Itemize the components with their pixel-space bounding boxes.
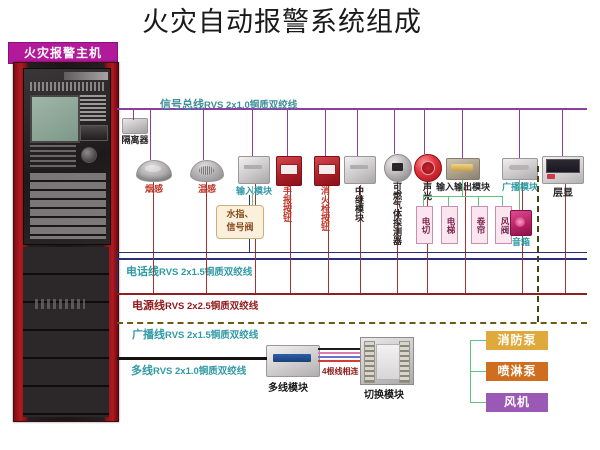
wire-bundle (318, 348, 360, 364)
connector-input-to-waterbox (252, 186, 253, 205)
bus-label-broadcast: 广播线RVS 2x1.5铜质双绞线 (132, 325, 258, 343)
output-box-fire-pump: 消防泵 (486, 331, 548, 350)
panel-lcd-screen (30, 95, 80, 143)
switch-module-terminal-right (399, 341, 410, 383)
output-bracket-arm-1 (470, 340, 486, 341)
wire-red (318, 360, 360, 362)
io-tree-stem (462, 180, 463, 197)
return-line-io-mod (465, 182, 466, 293)
return-line-heat (206, 182, 207, 293)
panel-keypad (30, 145, 76, 169)
device-repeater-module: 中继模块 (344, 156, 376, 184)
drop-line-hydrant (325, 108, 326, 156)
drop-line-gas (394, 108, 395, 154)
broadcast-dashed-riser (537, 166, 539, 322)
floor-display-label: 层显 (553, 184, 573, 199)
repeater-module-label: 中继模块 (354, 186, 364, 222)
device-gas-detector: 可燃气体探测器 (384, 154, 412, 182)
drop-line-heat (203, 108, 204, 160)
broadcast-module-icon (502, 158, 538, 180)
io-tree-leg-3 (478, 196, 479, 206)
host-panel-label: 火灾报警主机 (8, 42, 118, 64)
wire-pink (318, 352, 360, 354)
switch-module-label: 切换模块 (364, 386, 404, 401)
panel-rotary-knob (81, 147, 97, 163)
drop-line-bc-mod (519, 108, 520, 158)
device-floor-display: 层显 (542, 156, 584, 184)
multiline-module-label: 多线模块 (268, 379, 308, 394)
water-valve-line2: 信号阀 (226, 222, 253, 232)
heat-detector-icon (190, 160, 224, 182)
floor-display-led (547, 174, 555, 179)
speaker-label: 音箱 (512, 235, 530, 248)
input-module-icon (238, 156, 270, 184)
device-manual-call-point: 手报按钮 (276, 156, 302, 186)
panel-brand-mark (64, 72, 108, 80)
drop-line-manual-cp (287, 108, 288, 156)
water-valve-box: 水指、 信号阀 (216, 205, 264, 239)
bus-label-power: 电源线RVS 2x2.5铜质双绞线 (132, 296, 258, 314)
panel-rack-label (35, 299, 85, 309)
phone-bus-top-edge (117, 252, 587, 253)
wire-count-note: 4根线相连 (322, 366, 358, 377)
device-smoke-detector: 烟感 (136, 160, 172, 182)
device-io-module: 输入输出模块 (446, 158, 480, 180)
manual-call-point-label: 手报按钮 (282, 186, 292, 222)
panel-zone-grid (30, 173, 106, 239)
wire-blue (318, 356, 360, 358)
io-tree-leg-2 (448, 196, 449, 206)
water-valve-line1: 水指、 (226, 209, 253, 219)
panel-brand-text (30, 82, 106, 91)
gas-detector-label: 可燃气体探测器 (392, 182, 402, 245)
fire-alarm-control-panel (13, 62, 119, 422)
io-child-box: 卷帘 (471, 206, 488, 244)
io-tree-leg-4 (502, 196, 503, 206)
isolator-label: 隔离器 (121, 133, 148, 146)
switch-module (360, 337, 414, 385)
device-broadcast-module: 广播模块 (502, 158, 538, 180)
output-box-sprinkler-pump: 喷淋泵 (486, 362, 548, 381)
io-tree-horizontal (423, 196, 503, 197)
gas-detector-icon (384, 154, 412, 182)
device-input-module: 输入模块 (238, 156, 270, 184)
drop-line-repeater (357, 108, 358, 156)
switch-module-terminal-left (364, 341, 375, 383)
floor-display-screen (546, 159, 580, 173)
sounder-beacon-icon (414, 154, 442, 182)
speaker-icon (510, 210, 532, 236)
io-module-label: 输入输出模块 (436, 180, 490, 193)
drop-line-input-mod (252, 108, 253, 156)
device-sounder-beacon: 声光 (414, 154, 442, 182)
floor-display-icon (542, 156, 584, 184)
drop-line-io-mod (462, 108, 463, 158)
multiline-bus-segment (117, 357, 267, 360)
io-child-box: 电梯 (441, 206, 458, 244)
multiline-module-display (273, 354, 311, 362)
drop-line-isolator (133, 108, 134, 120)
panel-lower-rack (23, 247, 109, 417)
multiline-module (266, 345, 320, 377)
drop-line-sounder (424, 108, 425, 154)
heat-detector-label: 温感 (198, 182, 216, 195)
panel-face (23, 68, 111, 245)
hydrant-button-label: 消火栓按钮 (320, 186, 330, 231)
return-line-smoke (153, 182, 154, 293)
panel-indicator-strips (80, 95, 106, 121)
io-module-icon (446, 158, 480, 180)
bus-label-signal: 信号总线RVS 2x1.0铜质双绞线 (160, 95, 297, 113)
broadcast-module-label: 广播模块 (502, 180, 538, 193)
bus-label-multiline: 多线RVS 2x1.0铜质双绞线 (131, 361, 246, 379)
device-isolator: 隔离器 (122, 118, 148, 134)
isolator-icon (122, 118, 148, 134)
smoke-detector-label: 烟感 (145, 182, 163, 195)
switch-module-body (376, 344, 400, 380)
output-bracket-arm-2 (470, 371, 486, 372)
input-module-label: 输入模块 (236, 184, 272, 197)
panel-printer-slot (80, 125, 108, 141)
phone-loop-area (117, 258, 589, 295)
smoke-detector-icon (136, 160, 172, 182)
manual-call-point-icon (276, 156, 302, 186)
device-hydrant-button: 消火栓按钮 (314, 156, 340, 186)
drop-line-smoke (150, 108, 151, 160)
bus-line-broadcast (117, 322, 587, 324)
wire-black (318, 348, 360, 350)
page-title: 火灾自动报警系统组成 (142, 4, 482, 40)
output-bracket-arm-3 (470, 402, 486, 403)
connector-bc-to-speaker (519, 180, 520, 210)
io-tree-leg-1 (423, 196, 424, 206)
phone-bus-left-edge (117, 252, 118, 293)
hydrant-button-icon (314, 156, 340, 186)
repeater-module-icon (344, 156, 376, 184)
drop-line-floor-disp (562, 108, 563, 156)
output-box-fan: 风机 (486, 393, 548, 412)
diagram-canvas: 火灾自动报警系统组成 火灾报警主机 信号总线RVS 2x1.0铜质双绞线 电话线… (0, 0, 600, 450)
io-child-box: 电切 (416, 206, 433, 244)
device-heat-detector: 温感 (190, 160, 224, 182)
device-speaker: 音箱 (510, 210, 532, 236)
